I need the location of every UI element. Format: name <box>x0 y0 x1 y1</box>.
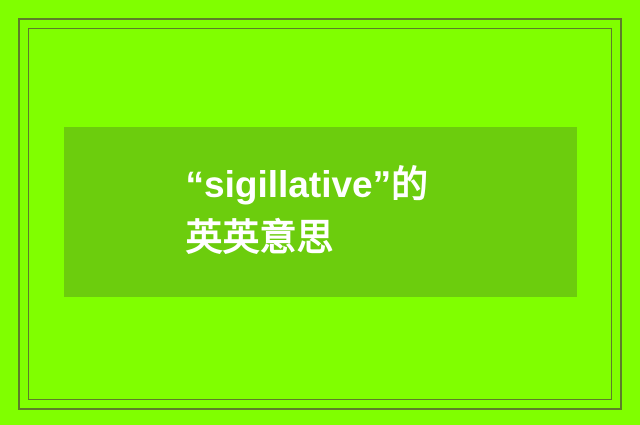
page-title: “sigillative”的英英意思 <box>186 159 456 264</box>
title-card: “sigillative”的英英意思 <box>64 127 577 297</box>
poster-canvas: “sigillative”的英英意思 <box>0 0 640 425</box>
